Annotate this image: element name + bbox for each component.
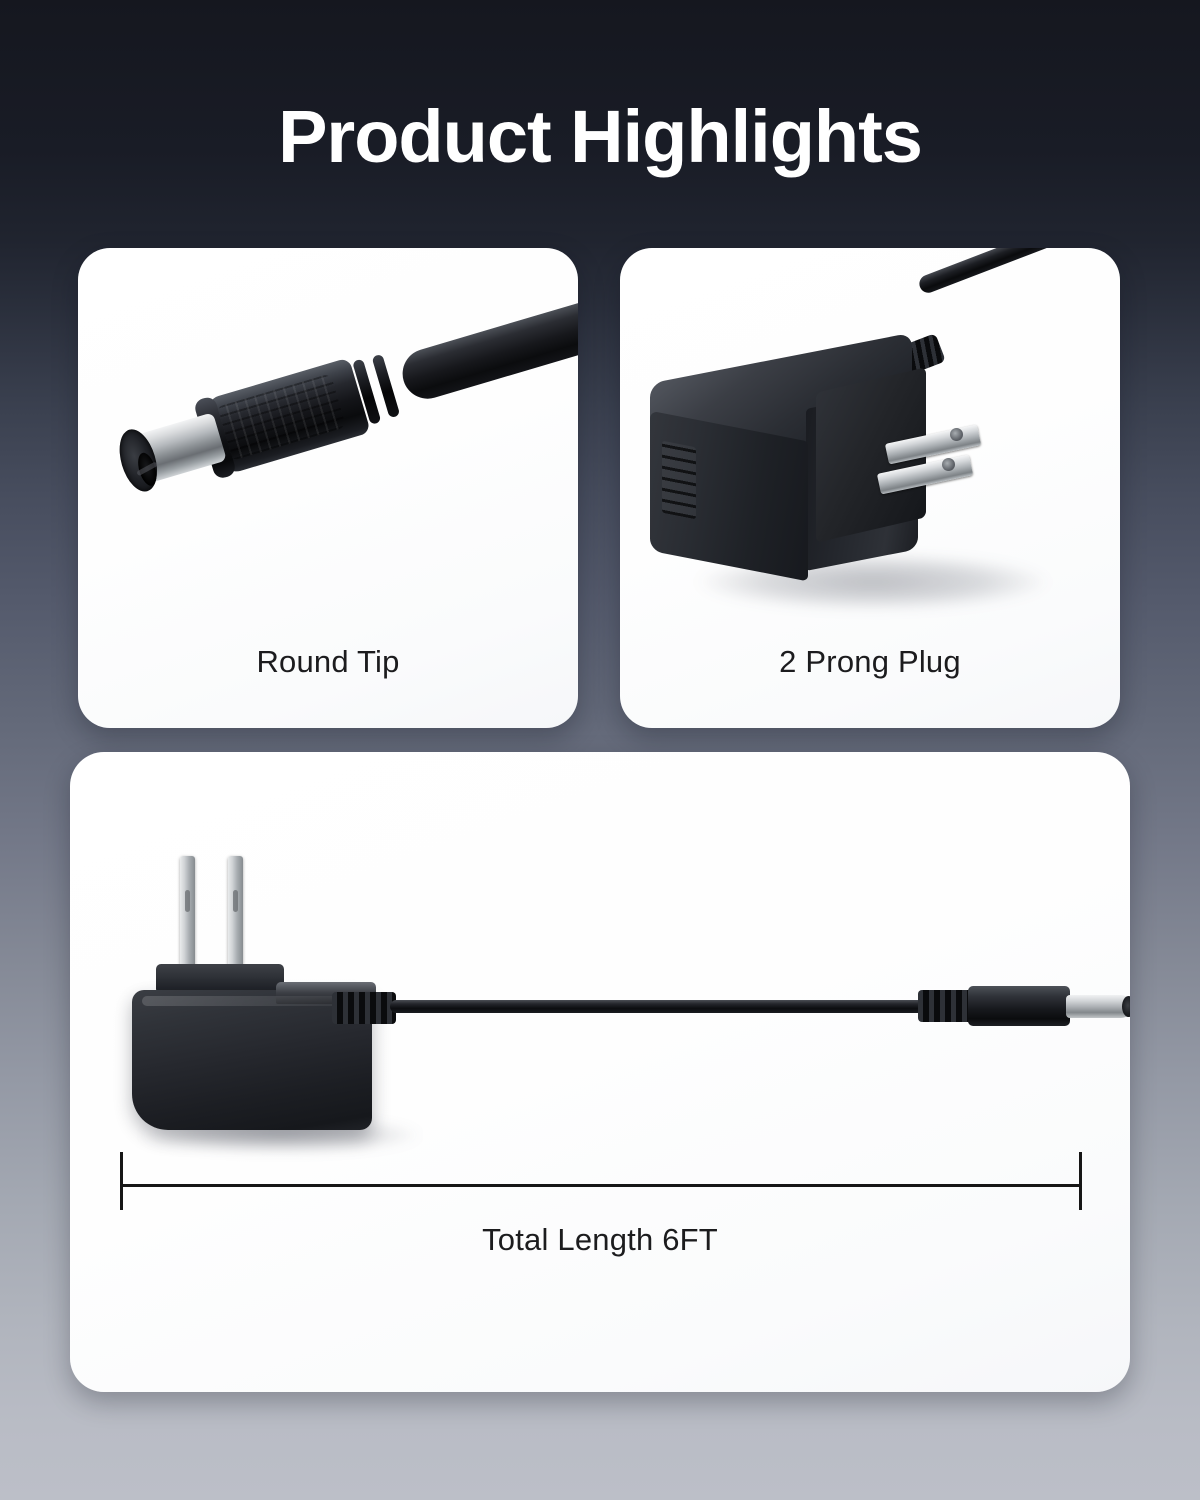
connector-cable — [397, 283, 578, 405]
card-round-tip[interactable]: Round Tip — [78, 248, 578, 728]
full-product-photo — [70, 752, 1130, 1392]
card-caption-total-length: Total Length 6FT — [70, 1222, 1130, 1258]
dimension-cap-right — [1079, 1152, 1082, 1210]
adapter-strain-relief — [332, 992, 396, 1024]
barrel-plug-body — [968, 986, 1070, 1026]
product-highlights-page: Product Highlights Round Tip — [0, 0, 1200, 1500]
dc-barrel-connector-icon — [104, 278, 578, 506]
dimension-line — [120, 1184, 1082, 1187]
power-cable — [390, 1000, 990, 1013]
page-title: Product Highlights — [0, 98, 1200, 176]
card-caption-round-tip: Round Tip — [78, 644, 578, 680]
adapter-top-highlight — [142, 996, 364, 1006]
dimension-cap-left — [120, 1152, 123, 1210]
ac-prong-slot — [185, 890, 190, 912]
ac-prong-hole — [942, 458, 955, 471]
adapter-cable — [917, 248, 1120, 295]
ac-prong-hole — [950, 428, 963, 441]
adapter-vent-slots — [662, 441, 696, 520]
barrel-plug-metal-tip — [1066, 995, 1130, 1018]
barrel-plug-strain-relief — [918, 990, 972, 1022]
card-total-length[interactable]: Total Length 6FT — [70, 752, 1130, 1392]
card-prong-plug[interactable]: 2 Prong Plug — [620, 248, 1120, 728]
card-caption-prong-plug: 2 Prong Plug — [620, 644, 1120, 680]
ac-prong — [180, 856, 195, 968]
ac-prong-slot — [233, 890, 238, 912]
ac-prong — [228, 856, 243, 968]
barrel-plug-tip-face — [1122, 996, 1130, 1017]
